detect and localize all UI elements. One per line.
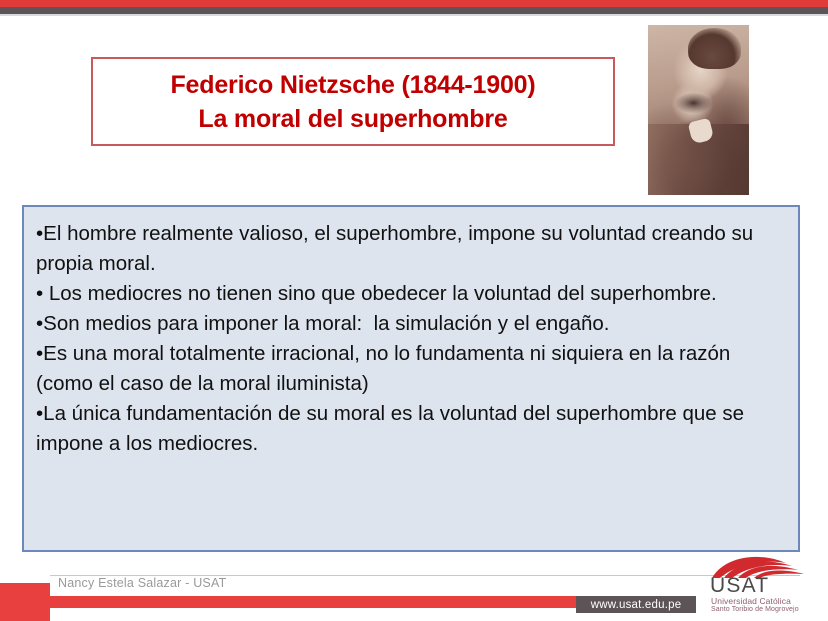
portrait-hair-shape	[688, 28, 741, 69]
usat-logo-line-2: Santo Toribio de Mogrovejo	[711, 606, 799, 614]
nietzsche-portrait-image	[648, 25, 749, 195]
slide-title-line-1: Federico Nietzsche (1844-1900)	[170, 68, 535, 102]
bullet-item: •La única fundamentación de su moral es …	[36, 399, 782, 459]
footer-url-bar: www.usat.edu.pe	[576, 596, 696, 613]
footer-red-block	[0, 583, 50, 621]
top-hairline-divider	[0, 14, 828, 16]
top-accent-bar-red	[0, 0, 828, 7]
usat-logo-wordmark: USAT	[710, 575, 769, 596]
usat-logo: USAT Universidad Católica Santo Toribio …	[706, 553, 820, 615]
bullet-item: •El hombre realmente valioso, el superho…	[36, 219, 782, 279]
footer-url-text: www.usat.edu.pe	[591, 599, 682, 611]
bullet-item: • Los mediocres no tienen sino que obede…	[36, 279, 782, 309]
portrait-moustache-shape	[676, 93, 710, 113]
footer-red-bar	[50, 596, 576, 608]
slide-title-line-2: La moral del superhombre	[198, 102, 507, 136]
slide-content-box: •El hombre realmente valioso, el superho…	[22, 205, 800, 552]
slide-title-box: Federico Nietzsche (1844-1900) La moral …	[91, 57, 615, 146]
usat-logo-line-1: Universidad Católica	[711, 597, 791, 606]
bullet-item: •Son medios para imponer la moral: la si…	[36, 309, 782, 339]
bullet-item: •Es una moral totalmente irracional, no …	[36, 339, 782, 399]
footer-author-text: Nancy Estela Salazar - USAT	[58, 576, 226, 590]
top-accent-bar-gray	[0, 7, 828, 14]
